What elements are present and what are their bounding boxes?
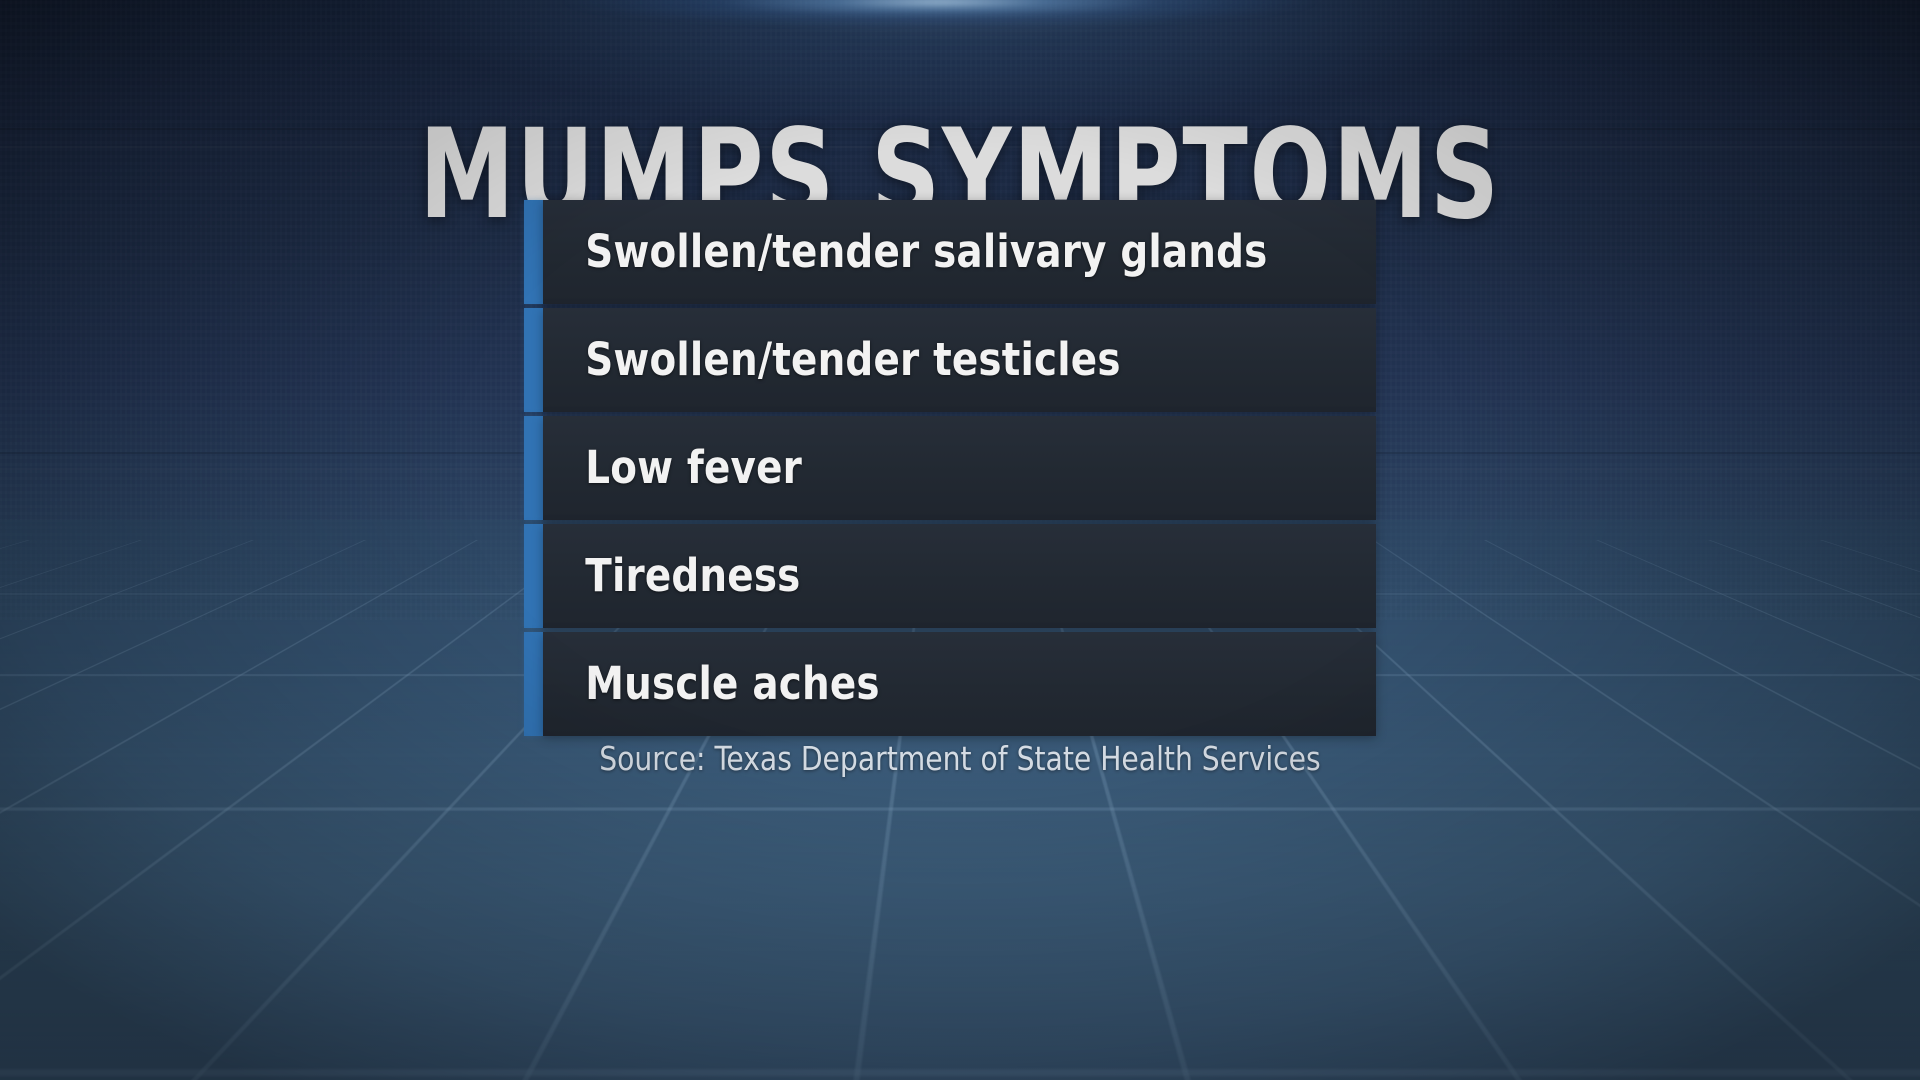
list-item-panel: Muscle aches <box>543 632 1376 736</box>
accent-bar <box>524 632 543 736</box>
list-item-label: Swollen/tender salivary glands <box>543 228 1268 276</box>
source-attribution: Source: Texas Department of State Health… <box>48 740 1872 778</box>
list-item: Low fever <box>524 416 1376 520</box>
top-light-flare <box>560 0 1320 32</box>
list-item-panel: Swollen/tender salivary glands <box>543 200 1376 304</box>
accent-bar <box>524 416 543 520</box>
broadcast-graphic-stage: MUMPS SYMPTOMS Swollen/tender salivary g… <box>0 0 1920 1080</box>
list-item-panel: Tiredness <box>543 524 1376 628</box>
accent-bar <box>524 308 543 412</box>
accent-bar <box>524 524 543 628</box>
list-item-label: Swollen/tender testicles <box>543 336 1121 384</box>
accent-bar <box>524 200 543 304</box>
list-item-label: Low fever <box>543 444 802 492</box>
list-item-panel: Swollen/tender testicles <box>543 308 1376 412</box>
list-item-label: Tiredness <box>543 552 800 600</box>
list-item-label: Muscle aches <box>543 660 880 708</box>
list-item: Tiredness <box>524 524 1376 628</box>
list-item: Muscle aches <box>524 632 1376 736</box>
list-item: Swollen/tender testicles <box>524 308 1376 412</box>
symptom-list: Swollen/tender salivary glands Swollen/t… <box>524 200 1376 736</box>
list-item: Swollen/tender salivary glands <box>524 200 1376 304</box>
list-item-panel: Low fever <box>543 416 1376 520</box>
